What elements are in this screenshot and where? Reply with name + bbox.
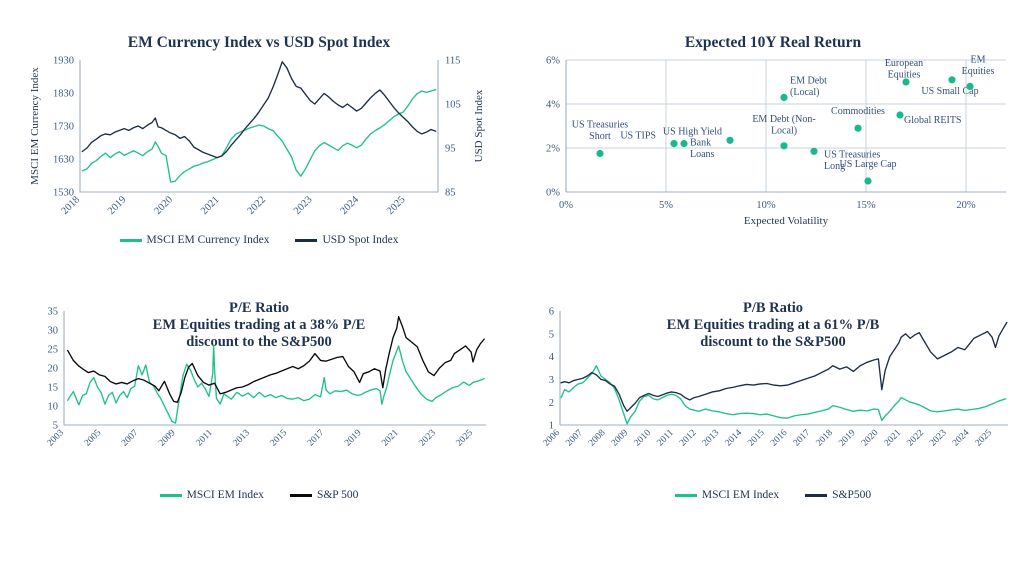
x-axis-tick: 2003 <box>46 428 67 449</box>
scatter-point-group[interactable]: Global REITS <box>896 112 961 127</box>
x-axis-tick: 2024 <box>338 194 361 217</box>
scatter-point-label: US Treasuries <box>572 120 629 131</box>
x-axis-tick: 2025 <box>455 428 476 449</box>
y-axis-tick: 5 <box>549 330 554 341</box>
x-axis-tick: 2019 <box>837 428 858 449</box>
y-axis-tick: 6 <box>549 307 554 318</box>
scatter-point-marker[interactable] <box>966 83 973 90</box>
scatter-point-label: US High Yield <box>663 127 722 138</box>
panel-expected-return-scatter: Expected 10Y Real Return 0%2%4%6%0%5%10%… <box>528 34 1018 274</box>
legend-swatch <box>160 494 182 497</box>
legend-label: MSCI EM Index <box>702 489 779 501</box>
x-axis-tick: 15% <box>856 200 876 211</box>
x-axis-tick: 20% <box>956 200 976 211</box>
x-axis-tick: 2020 <box>152 195 175 218</box>
y-axis-left-tick: 1730 <box>53 122 74 133</box>
panel-pe-ratio: P/E Ratio EM Equities trading at a 38% P… <box>24 300 494 550</box>
legend-item[interactable]: MSCI EM Currency Index <box>120 234 270 246</box>
x-axis-tick: 2008 <box>587 428 608 449</box>
scatter-point-group[interactable]: EuropeanEquities <box>885 58 923 86</box>
x-axis-tick: 2019 <box>106 195 129 218</box>
x-axis-tick: 2005 <box>83 428 104 449</box>
legend-label: USD Spot Index <box>322 234 398 246</box>
scatter-point-marker[interactable] <box>780 94 787 101</box>
legend-item[interactable]: MSCI EM Index <box>160 489 264 501</box>
legend-item[interactable]: S&P 500 <box>290 489 358 501</box>
legend-swatch <box>120 239 142 242</box>
y-axis-tick: 25 <box>48 345 59 356</box>
x-axis-tick: 2011 <box>656 428 676 448</box>
scatter-point-label: Equities <box>888 70 921 81</box>
y-axis-tick: 20 <box>48 364 59 375</box>
x-axis-tick: 2009 <box>157 428 178 449</box>
scatter-point-label: EM Debt <box>790 76 827 87</box>
x-axis-tick: 2019 <box>343 428 364 449</box>
x-axis-tick: 2011 <box>195 428 215 448</box>
x-axis-tick: 2022 <box>905 428 926 449</box>
x-axis-tick: 2023 <box>417 428 438 449</box>
x-axis-tick: 2025 <box>974 428 995 449</box>
y-axis-tick: 4% <box>546 100 560 111</box>
scatter-point-label: Local) <box>771 126 797 137</box>
scatter-point-marker[interactable] <box>864 178 871 185</box>
legend-swatch <box>675 494 697 497</box>
scatter-point-group[interactable]: EM Debt (Non-Local) <box>752 114 815 150</box>
legend-item[interactable]: MSCI EM Index <box>675 489 779 501</box>
x-axis-title: Expected Volatility <box>744 215 829 227</box>
y-axis-right-title: USD Spot Index <box>473 89 485 162</box>
x-axis-tick: 2007 <box>564 428 585 449</box>
scatter-point-marker[interactable] <box>680 140 687 147</box>
currency-chart-legend: MSCI EM Currency IndexUSD Spot Index <box>24 234 494 246</box>
y-axis-tick: 0% <box>546 188 560 199</box>
legend-swatch <box>295 239 317 242</box>
x-axis-tick: 2009 <box>610 428 631 449</box>
scatter-point-label: US TIPS <box>620 131 656 142</box>
legend-item[interactable]: USD Spot Index <box>295 234 398 246</box>
y-axis-left-tick: 1830 <box>53 89 74 100</box>
pe-chart-legend: MSCI EM IndexS&P 500 <box>24 489 494 501</box>
y-axis-right-tick: 105 <box>445 100 461 111</box>
scatter-point-marker[interactable] <box>596 150 603 157</box>
x-axis-tick: 2013 <box>232 428 253 449</box>
legend-label: MSCI EM Currency Index <box>147 234 270 246</box>
scatter-point-label: Bank <box>690 138 711 149</box>
y-axis-right-tick: 85 <box>445 188 456 199</box>
x-axis-tick: 2024 <box>951 428 972 449</box>
y-axis-tick: 2 <box>549 398 554 409</box>
scatter-point-marker[interactable] <box>670 140 677 147</box>
x-axis-tick: 2012 <box>678 428 699 449</box>
x-axis-tick: 2010 <box>633 428 654 449</box>
scatter-point-marker[interactable] <box>780 142 787 149</box>
series-line <box>82 90 435 182</box>
x-axis-tick: 2022 <box>245 195 268 218</box>
scatter-point-marker[interactable] <box>896 112 903 119</box>
currency-chart-title: EM Currency Index vs USD Spot Index <box>24 34 494 52</box>
x-axis-tick: 2023 <box>292 195 315 218</box>
y-axis-tick: 2% <box>546 144 560 155</box>
x-axis-tick: 2016 <box>769 428 790 449</box>
y-axis-tick: 10 <box>48 402 59 413</box>
currency-chart-plot: 1530163017301830193085951051152018201920… <box>24 52 494 232</box>
scatter-point-label: EM Debt (Non- <box>752 114 815 125</box>
scatter-chart-title: Expected 10Y Real Return <box>528 34 1018 52</box>
scatter-point-marker[interactable] <box>810 148 817 155</box>
panel-pb-ratio: P/B Ratio EM Equities trading at a 61% P… <box>528 300 1018 550</box>
y-axis-left-title: MSCI EM Currency Index <box>29 67 41 185</box>
scatter-point-label: Short <box>589 131 611 142</box>
x-axis-tick: 2015 <box>746 428 767 449</box>
scatter-point-label: European <box>885 58 923 69</box>
x-axis-tick: 2013 <box>701 428 722 449</box>
scatter-point-label: (Local) <box>790 87 819 98</box>
legend-label: S&P500 <box>832 489 871 501</box>
scatter-point-marker[interactable] <box>726 137 733 144</box>
scatter-point-label: Equities <box>962 66 995 77</box>
x-axis-tick: 10% <box>756 200 776 211</box>
scatter-point-group[interactable]: BankLoans <box>680 138 714 161</box>
scatter-point-group[interactable]: US Large Cap <box>839 159 896 185</box>
x-axis-tick: 2014 <box>724 428 745 449</box>
scatter-point-label: US Large Cap <box>839 159 896 170</box>
legend-item[interactable]: S&P500 <box>805 489 871 501</box>
x-axis-tick: 5% <box>659 200 673 211</box>
x-axis-tick: 2015 <box>269 428 290 449</box>
y-axis-left-tick: 1630 <box>53 155 74 166</box>
y-axis-tick: 15 <box>48 383 59 394</box>
x-axis-tick: 2021 <box>380 428 401 449</box>
y-axis-right-tick: 115 <box>445 56 460 67</box>
scatter-point-label: Global REITS <box>904 115 962 126</box>
x-axis-tick: 2020 <box>860 428 881 449</box>
legend-label: S&P 500 <box>317 489 358 501</box>
scatter-chart-plot: 0%2%4%6%0%5%10%15%20%Expected Volatility… <box>528 52 1018 257</box>
series-line <box>561 366 1006 424</box>
scatter-point-group[interactable]: Commodities <box>831 106 885 132</box>
x-axis-tick: 2025 <box>385 195 408 218</box>
panel-currency-index: EM Currency Index vs USD Spot Index 1530… <box>24 34 494 274</box>
x-axis-tick: 2006 <box>542 428 563 449</box>
y-axis-tick: 30 <box>48 326 59 337</box>
y-axis-tick: 3 <box>549 375 554 386</box>
series-line <box>82 62 435 158</box>
x-axis-tick: 2023 <box>928 428 949 449</box>
y-axis-right-tick: 95 <box>445 144 456 155</box>
pb-chart-legend: MSCI EM IndexS&P500 <box>528 489 1018 501</box>
x-axis-tick: 2007 <box>120 428 141 449</box>
x-axis-tick: 2018 <box>815 428 836 449</box>
y-axis-tick: 35 <box>48 307 59 318</box>
legend-swatch <box>805 494 827 497</box>
y-axis-tick: 4 <box>549 353 555 364</box>
x-axis-tick: 2021 <box>199 195 222 218</box>
x-axis-tick: 2017 <box>306 428 327 449</box>
x-axis-tick: 0% <box>559 200 573 211</box>
y-axis-left-tick: 1930 <box>53 56 74 67</box>
scatter-point-label: EM <box>971 55 986 66</box>
legend-label: MSCI EM Index <box>187 489 264 501</box>
scatter-point-group[interactable]: EM Debt(Local) <box>780 76 827 102</box>
x-axis-tick: 2017 <box>792 428 813 449</box>
scatter-point-label: Loans <box>690 149 715 160</box>
y-axis-tick: 6% <box>546 56 560 67</box>
scatter-point-marker[interactable] <box>854 125 861 132</box>
scatter-point-marker[interactable] <box>902 79 909 86</box>
scatter-point-marker[interactable] <box>948 76 955 83</box>
x-axis-tick: 2021 <box>883 428 904 449</box>
scatter-point-label: Commodities <box>831 106 885 117</box>
legend-swatch <box>290 494 312 497</box>
